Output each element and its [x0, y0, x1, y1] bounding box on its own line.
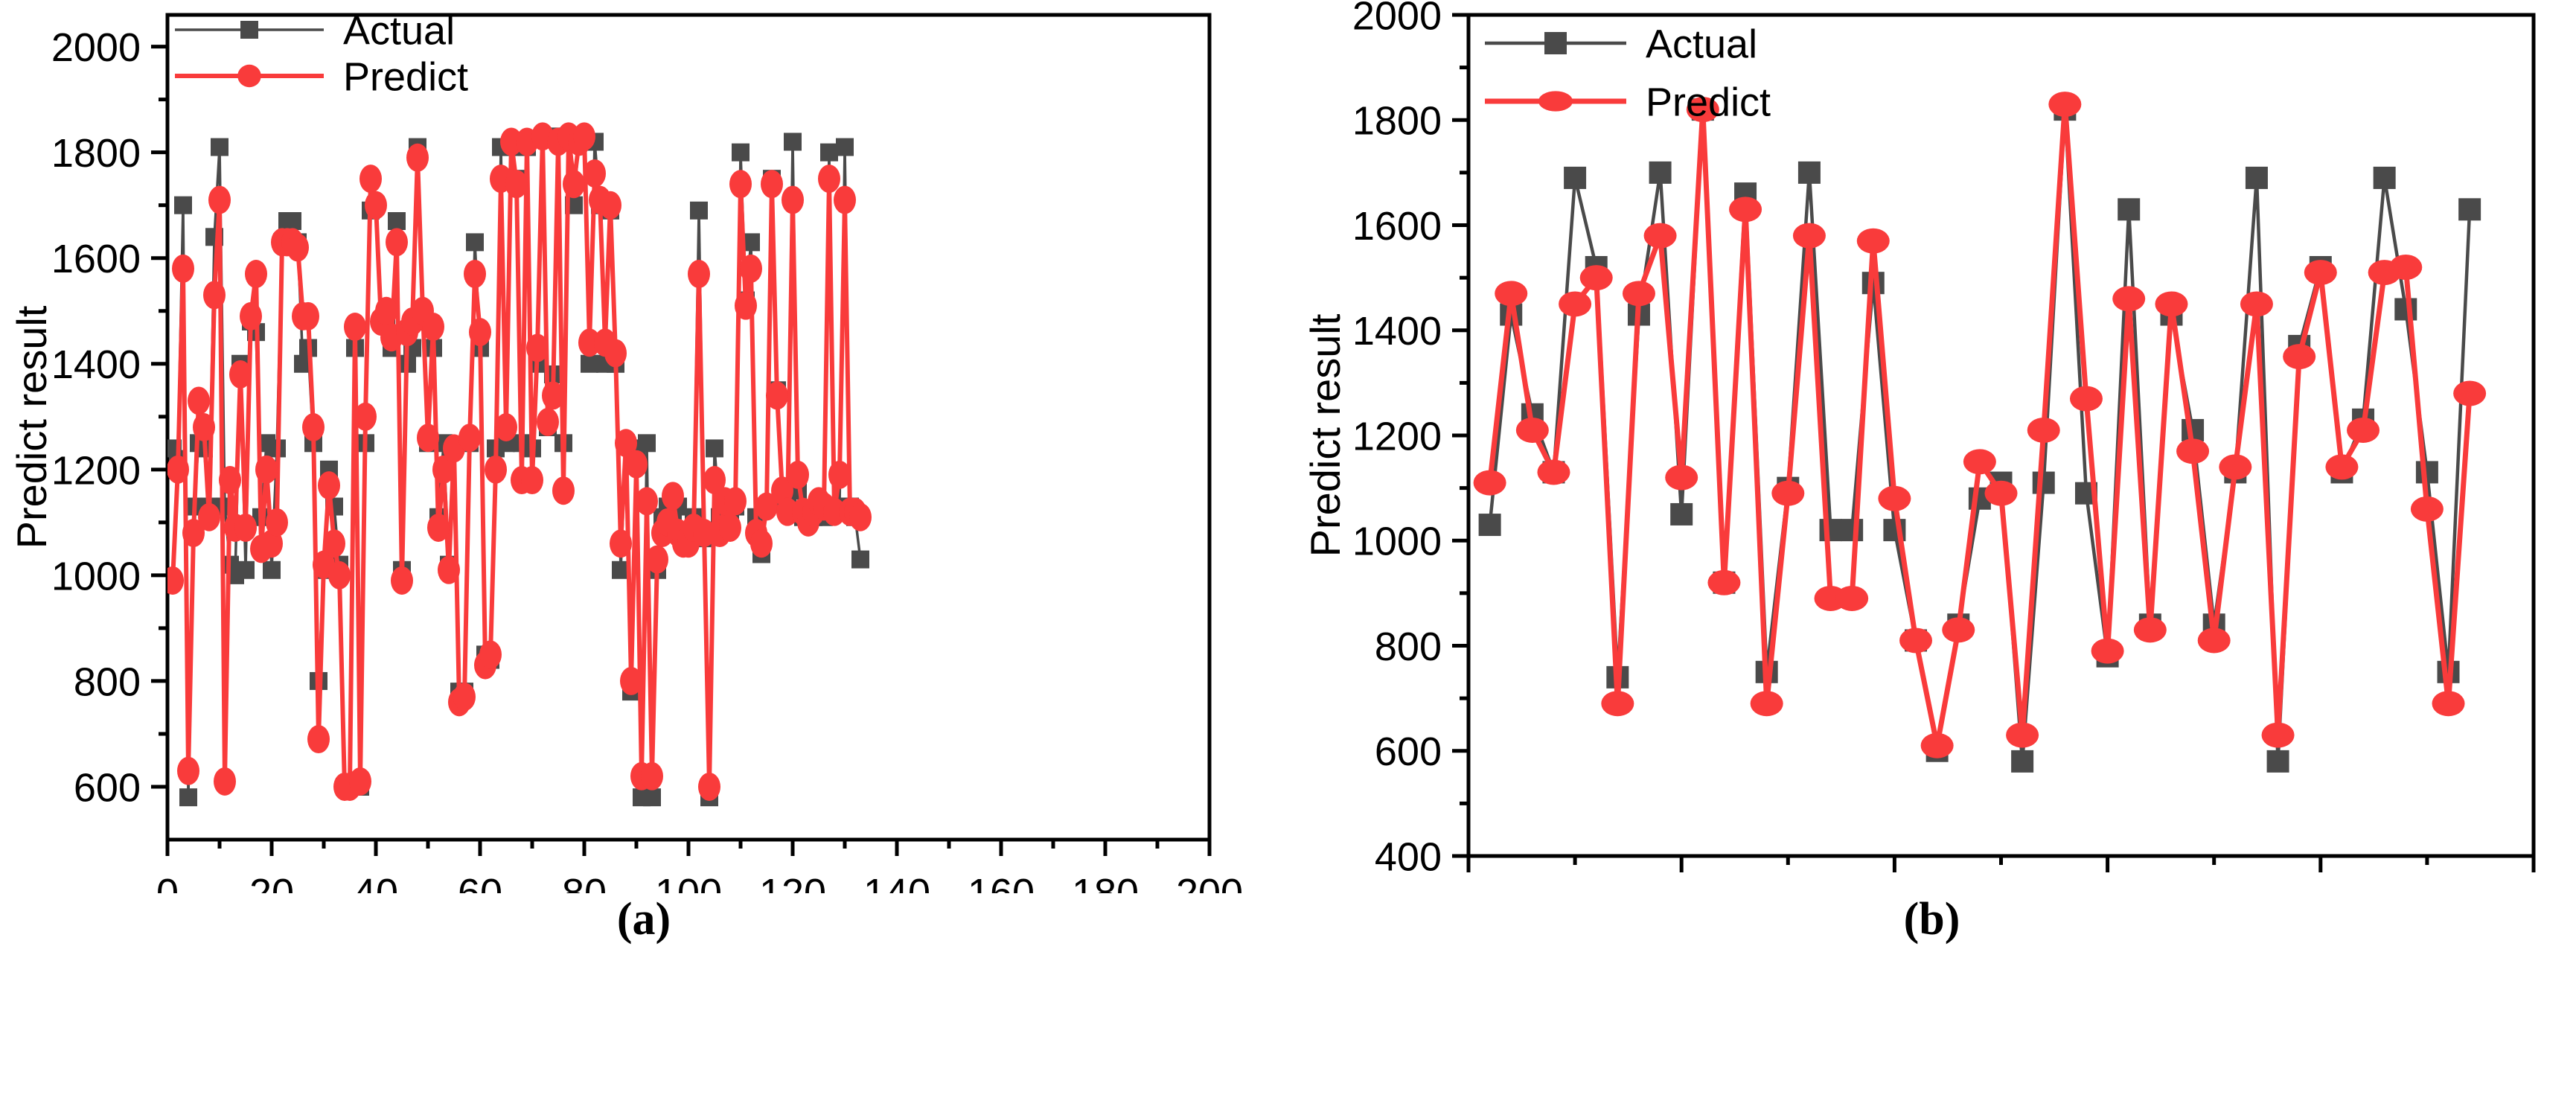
data-point-predict: [406, 144, 429, 172]
y-tick-label: 400: [1375, 834, 1442, 879]
y-tick-label: 1400: [1352, 309, 1442, 354]
data-point-predict: [422, 313, 444, 341]
data-point-actual: [263, 561, 281, 579]
data-point-predict: [464, 260, 486, 288]
data-point-predict: [584, 159, 606, 188]
x-tick-label: 80: [562, 871, 607, 893]
x-tick-label: 40: [2298, 887, 2343, 893]
data-point-predict: [729, 170, 752, 198]
chart-b-svg: 4006008001000120014001600180020000102030…: [1288, 0, 2576, 893]
data-point-predict: [1857, 229, 1890, 254]
y-tick-labels: 400600800100012001400160018002000: [1352, 0, 1442, 879]
x-tick-label: 60: [458, 871, 502, 893]
data-point-predict: [219, 466, 241, 494]
chart-panel-b: 4006008001000120014001600180020000102030…: [1288, 0, 2576, 1118]
data-point-actual: [1798, 162, 1821, 184]
data-point-predict: [2006, 723, 2039, 748]
data-point-predict: [167, 456, 189, 484]
legend-actual-marker: [1544, 32, 1567, 54]
data-point-predict: [255, 456, 278, 484]
data-point-actual: [1841, 519, 1863, 541]
y-tick-label: 1800: [1352, 99, 1442, 144]
data-point-predict: [1751, 691, 1783, 716]
data-point-predict: [662, 482, 684, 510]
data-point-actual: [179, 788, 197, 806]
data-point-predict: [479, 640, 502, 668]
data-point-predict: [287, 234, 309, 262]
data-point-actual: [1670, 503, 1693, 526]
data-point-actual: [638, 434, 656, 452]
data-point-predict: [427, 514, 450, 542]
data-point-actual: [1564, 167, 1586, 189]
data-point-predict: [698, 773, 720, 801]
data-point-predict: [438, 556, 460, 584]
x-tick-label: 10: [1659, 887, 1704, 893]
data-point-actual: [643, 788, 661, 806]
y-tick-label: 1000: [51, 554, 141, 598]
data-point-predict: [537, 408, 559, 436]
data-point-predict: [1835, 586, 1868, 611]
x-tick-labels: 020406080100120140160180200: [156, 871, 1243, 893]
data-point-predict: [365, 191, 387, 220]
y-tick-label: 2000: [51, 25, 141, 70]
data-point-predict: [328, 561, 351, 590]
data-point-predict: [2304, 260, 2337, 285]
data-point-predict: [1665, 465, 1698, 491]
data-point-actual: [2246, 167, 2268, 189]
data-point-actual: [690, 202, 708, 220]
y-tick-label: 1800: [51, 131, 141, 176]
y-tick-label: 1200: [1352, 414, 1442, 459]
data-point-predict: [234, 514, 257, 542]
y-axis-ticks: [1452, 15, 1468, 856]
data-point-actual: [836, 138, 854, 156]
data-point-actual: [2011, 750, 2033, 773]
chart-a-svg: 6008001000120014001600180020000204060801…: [0, 0, 1288, 893]
data-point-actual: [174, 197, 192, 214]
data-point-actual: [237, 561, 255, 579]
data-point-predict: [495, 413, 517, 441]
x-tick-label: 30: [2086, 887, 2130, 893]
x-tick-label: 20: [1872, 887, 1917, 893]
data-point-predict: [386, 228, 408, 256]
y-tick-label: 1400: [51, 342, 141, 387]
data-point-predict: [1942, 617, 1975, 642]
data-point-predict: [458, 424, 481, 452]
data-point-predict: [604, 339, 627, 368]
data-point-predict: [787, 461, 809, 489]
data-point-actual: [1649, 162, 1672, 184]
data-point-actual: [2118, 198, 2140, 220]
data-point-predict: [2027, 418, 2060, 443]
data-point-predict: [208, 186, 231, 214]
data-point-predict: [2325, 454, 2358, 479]
legend-actual-label: Actual: [1646, 22, 1757, 66]
data-point-predict: [198, 503, 220, 531]
x-tick-label: 100: [655, 871, 722, 893]
legend-actual-marker: [240, 21, 258, 39]
data-point-predict: [620, 667, 642, 695]
data-point-predict: [193, 413, 215, 441]
data-point-actual: [1479, 514, 1501, 536]
data-point-predict: [1580, 265, 1613, 290]
data-point-predict: [542, 381, 564, 409]
data-point-actual: [2033, 472, 2055, 494]
data-point-predict: [2176, 438, 2209, 464]
data-point-predict: [318, 471, 340, 499]
data-point-predict: [2262, 723, 2295, 748]
data-point-predict: [307, 725, 330, 753]
data-point-predict: [344, 313, 366, 341]
data-point-predict: [2198, 627, 2231, 653]
data-point-predict: [2347, 418, 2380, 443]
panel-a-caption: (a): [0, 893, 1288, 946]
data-point-predict: [375, 297, 397, 325]
data-point-predict: [625, 450, 648, 479]
data-point-predict: [849, 503, 872, 531]
y-tick-labels: 600800100012001400160018002000: [51, 25, 141, 810]
data-point-predict: [688, 260, 710, 288]
data-point-actual: [2374, 167, 2396, 189]
data-point-predict: [469, 318, 491, 346]
x-tick-label: 120: [759, 871, 826, 893]
data-point-actual: [388, 212, 406, 230]
data-point-predict: [297, 302, 319, 330]
data-point-predict: [1729, 197, 1762, 222]
data-point-predict: [1921, 733, 1954, 758]
data-point-predict: [1495, 281, 1527, 306]
x-tick-label: 40: [354, 871, 398, 893]
data-point-predict: [2432, 691, 2465, 716]
y-tick-label: 800: [1375, 625, 1442, 669]
data-point-actual: [1820, 519, 1842, 541]
data-point-predict: [214, 767, 236, 796]
x-tick-label: 140: [863, 871, 930, 893]
data-point-predict: [740, 255, 762, 283]
y-axis-title: Predict result: [1302, 313, 1349, 557]
y-axis-ticks: [151, 47, 167, 787]
data-point-predict: [266, 508, 288, 537]
data-point-predict: [599, 191, 621, 220]
data-point-predict: [2155, 291, 2187, 316]
data-point-predict: [521, 466, 543, 494]
data-point-predict: [323, 529, 345, 558]
legend-predict-label: Predict: [1646, 80, 1771, 124]
data-point-predict: [2091, 639, 2124, 664]
data-point-predict: [177, 757, 199, 785]
legend-predict-marker: [237, 65, 261, 87]
data-point-predict: [782, 186, 804, 214]
chart-panel-a: 6008001000120014001600180020000204060801…: [0, 0, 1288, 1118]
y-tick-label: 1600: [51, 237, 141, 281]
data-point-actual: [784, 132, 802, 150]
data-point-predict: [1601, 691, 1634, 716]
x-axis-ticks: [1468, 856, 2534, 872]
data-point-predict: [359, 164, 382, 193]
data-point-predict: [563, 170, 585, 198]
y-tick-label: 800: [74, 659, 141, 704]
data-point-actual: [706, 439, 723, 457]
data-point-predict: [641, 762, 663, 790]
data-point-predict: [1516, 418, 1549, 443]
data-point-predict: [1771, 481, 1804, 506]
data-point-predict: [229, 360, 252, 389]
data-point-predict: [1963, 449, 1996, 474]
y-tick-label: 600: [74, 765, 141, 810]
legend-predict-label: Predict: [343, 54, 468, 99]
panel-b-caption: (b): [1288, 893, 2576, 946]
y-tick-label: 1600: [1352, 204, 1442, 249]
data-point-predict: [485, 456, 507, 484]
data-point-predict: [2112, 286, 2145, 311]
data-point-predict: [1899, 627, 1932, 653]
data-point-predict: [1707, 570, 1740, 595]
x-tick-label: 0: [156, 871, 179, 893]
data-point-actual: [2458, 198, 2481, 220]
data-point-actual: [466, 233, 484, 251]
data-point-predict: [1644, 223, 1677, 249]
data-point-predict: [610, 529, 632, 558]
data-point-predict: [719, 514, 741, 542]
data-point-predict: [761, 170, 783, 198]
data-point-predict: [1878, 486, 1911, 511]
x-tick-label: 200: [1176, 871, 1243, 893]
data-point-predict: [2411, 496, 2444, 522]
data-point-predict: [2134, 617, 2167, 642]
data-point-predict: [2453, 381, 2486, 406]
y-axis-title: Predict result: [8, 305, 55, 549]
data-point-predict: [1537, 459, 1570, 485]
data-point-predict: [245, 260, 267, 288]
data-point-predict: [766, 381, 788, 409]
data-point-predict: [526, 333, 549, 362]
data-point-actual: [732, 144, 750, 162]
data-point-predict: [828, 461, 851, 489]
data-point-predict: [1474, 470, 1506, 496]
data-point-actual: [851, 551, 869, 569]
data-point-actual: [2394, 298, 2417, 321]
data-point-predict: [2240, 291, 2273, 316]
data-point-predict: [302, 413, 325, 441]
data-point-actual: [211, 138, 228, 156]
data-point-predict: [203, 281, 226, 309]
data-point-predict: [2070, 386, 2103, 412]
data-point-actual: [284, 212, 301, 230]
x-tick-label: 180: [1072, 871, 1139, 893]
y-tick-label: 1200: [51, 448, 141, 493]
legend-actual-label: Actual: [343, 8, 455, 53]
data-point-predict: [636, 487, 658, 515]
data-point-predict: [391, 566, 413, 595]
data-point-predict: [505, 170, 528, 198]
y-tick-label: 1000: [1352, 520, 1442, 564]
data-point-predict: [2048, 92, 2081, 117]
y-tick-label: 600: [1375, 729, 1442, 774]
data-point-predict: [818, 164, 840, 193]
data-point-actual: [820, 144, 838, 162]
data-point-predict: [1985, 481, 2018, 506]
data-point-predict: [2389, 255, 2422, 280]
data-point-predict: [188, 386, 210, 415]
data-point-predict: [2219, 454, 2251, 479]
data-point-predict: [2283, 344, 2315, 369]
legend-predict-marker: [1538, 91, 1573, 111]
data-point-predict: [162, 566, 184, 595]
data-point-predict: [834, 186, 856, 214]
data-point-predict: [417, 424, 439, 452]
x-tick-label: 160: [968, 871, 1035, 893]
data-point-predict: [354, 403, 377, 431]
data-point-actual: [581, 355, 598, 373]
data-point-predict: [1623, 281, 1655, 306]
data-point-predict: [750, 529, 773, 558]
x-axis-ticks: [167, 840, 1209, 856]
figure-container: 6008001000120014001600180020000204060801…: [0, 0, 2576, 1118]
data-point-predict: [735, 292, 757, 320]
data-point-predict: [172, 255, 194, 283]
x-tick-labels: 01020304050: [1457, 887, 2556, 893]
x-tick-label: 0: [1457, 887, 1480, 893]
y-tick-label: 2000: [1352, 0, 1442, 38]
data-point-predict: [573, 122, 595, 150]
x-tick-label: 20: [249, 871, 294, 893]
data-point-predict: [349, 767, 371, 796]
x-tick-label: 50: [2511, 887, 2556, 893]
data-point-predict: [1793, 223, 1826, 249]
data-point-predict: [552, 476, 575, 505]
data-point-actual: [2267, 750, 2289, 773]
data-point-predict: [1559, 291, 1591, 316]
data-point-predict: [240, 302, 262, 330]
data-point-predict: [646, 546, 668, 574]
data-point-predict: [724, 487, 747, 515]
data-point-predict: [453, 683, 476, 711]
